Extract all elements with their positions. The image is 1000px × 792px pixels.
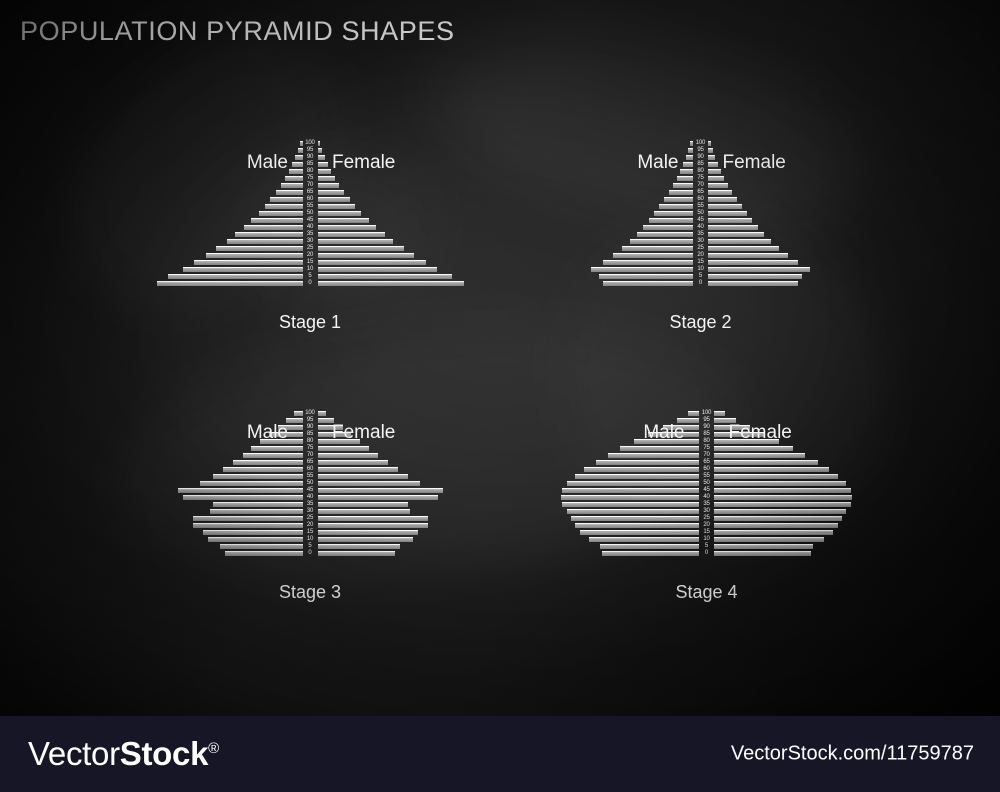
bar-female xyxy=(318,197,350,202)
bar-male xyxy=(580,530,699,535)
bar-male xyxy=(259,211,303,216)
axis-tick-label: 30 xyxy=(303,508,318,515)
bar-male xyxy=(673,183,693,188)
bar-female xyxy=(318,176,336,181)
axis-tick-label: 25 xyxy=(693,245,708,252)
bar-female xyxy=(318,481,421,486)
bar-male xyxy=(688,411,699,416)
bar-male xyxy=(225,551,303,556)
bar-female xyxy=(318,260,426,265)
legend-label-female: Female xyxy=(729,422,792,444)
axis-tick-label: 100 xyxy=(693,140,708,147)
bar-female xyxy=(714,411,725,416)
bar-female xyxy=(318,211,362,216)
page-title: POPULATION PYRAMID SHAPES xyxy=(20,16,455,47)
bar-male xyxy=(562,488,699,493)
bar-male xyxy=(603,260,693,265)
bar-male xyxy=(206,253,302,258)
axis-tick-label: 95 xyxy=(303,417,318,424)
bar-female xyxy=(318,169,331,174)
bar-female xyxy=(708,225,758,230)
axis-tick-label: 0 xyxy=(303,550,318,557)
bar-female xyxy=(708,281,798,286)
axis-tick-label: 95 xyxy=(699,417,714,424)
bar-male xyxy=(622,246,693,251)
axis-tick-label: 80 xyxy=(699,438,714,445)
axis-tick-label: 65 xyxy=(693,189,708,196)
bar-male xyxy=(194,260,302,265)
axis-tick-label: 45 xyxy=(303,217,318,224)
bar-female xyxy=(708,162,718,167)
axis-tick-label: 75 xyxy=(693,175,708,182)
axis-tick-label: 10 xyxy=(303,266,318,273)
registered-mark-icon: ® xyxy=(208,740,219,757)
pyramid-figure: 1009590858075706560555045403530252015105… xyxy=(568,410,845,557)
bar-female xyxy=(318,204,356,209)
bar-female xyxy=(708,155,715,160)
figure-caption: Stage 3 xyxy=(185,582,435,603)
bar-male xyxy=(157,281,303,286)
axis-tick-label: 90 xyxy=(699,424,714,431)
bar-male xyxy=(571,516,699,521)
bar-female xyxy=(708,218,752,223)
bar-male xyxy=(620,446,699,451)
bar-male xyxy=(216,246,302,251)
bar-female xyxy=(318,281,464,286)
bar-female xyxy=(708,211,747,216)
vignette-overlay xyxy=(0,0,1000,716)
bar-male xyxy=(251,446,302,451)
bar-male xyxy=(208,537,303,542)
axis-tick-label: 100 xyxy=(303,140,318,147)
axis-tick-label: 65 xyxy=(303,189,318,196)
axis-tick-label: 5 xyxy=(699,543,714,550)
bar-male xyxy=(285,176,303,181)
bar-male xyxy=(575,523,699,528)
axis-tick-label: 35 xyxy=(693,231,708,238)
bar-male xyxy=(265,204,303,209)
axis-tick-label: 10 xyxy=(699,536,714,543)
bar-female xyxy=(714,495,852,500)
bar-male xyxy=(567,509,699,514)
axis-tick-label: 85 xyxy=(303,161,318,168)
bar-female xyxy=(714,446,793,451)
bar-male xyxy=(276,190,302,195)
bar-male xyxy=(686,155,693,160)
bar-female xyxy=(318,274,452,279)
bar-female xyxy=(708,141,711,146)
bar-female xyxy=(708,239,771,244)
bar-male xyxy=(613,253,693,258)
bar-male xyxy=(680,169,693,174)
pyramid-plot: 1009590858075706560555045403530252015105… xyxy=(163,140,457,287)
bar-female xyxy=(318,467,398,472)
axis-tick-label: 95 xyxy=(303,147,318,154)
bar-male xyxy=(295,155,302,160)
bar-female xyxy=(318,162,328,167)
bar-female xyxy=(708,176,724,181)
axis-tick-label: 60 xyxy=(303,196,318,203)
bar-female xyxy=(318,148,322,153)
bar-female xyxy=(714,481,846,486)
axis-tick-label: 5 xyxy=(303,543,318,550)
legend-label-male: Male xyxy=(643,422,684,444)
axis-tick-label: 60 xyxy=(303,466,318,473)
bar-female xyxy=(708,260,798,265)
axis-tick-label: 60 xyxy=(693,196,708,203)
bar-male xyxy=(561,495,699,500)
bar-male xyxy=(200,481,303,486)
axis-tick-label: 45 xyxy=(699,487,714,494)
figure-caption: Stage 2 xyxy=(598,312,803,333)
bar-female xyxy=(708,169,721,174)
bar-male xyxy=(630,239,693,244)
bar-female xyxy=(318,495,438,500)
bar-female xyxy=(318,218,369,223)
axis-tick-label: 75 xyxy=(699,445,714,452)
axis-tick-label: 5 xyxy=(303,273,318,280)
axis-tick-label: 90 xyxy=(303,154,318,161)
axis-tick-label: 15 xyxy=(303,529,318,536)
bar-male xyxy=(596,460,700,465)
axis-tick-label: 20 xyxy=(303,252,318,259)
axis-tick-label: 25 xyxy=(303,245,318,252)
bar-male xyxy=(251,218,302,223)
axis-tick-label: 40 xyxy=(699,494,714,501)
bar-male xyxy=(599,274,693,279)
footer-bar: VectorStock® VectorStock.com/11759787 xyxy=(0,716,1000,792)
bar-female xyxy=(318,516,428,521)
axis-tick-label: 20 xyxy=(693,252,708,259)
bar-female xyxy=(714,523,838,528)
bar-male xyxy=(294,411,303,416)
bar-female xyxy=(318,225,376,230)
bar-male xyxy=(210,509,303,514)
bar-female xyxy=(318,239,394,244)
bar-male xyxy=(669,190,693,195)
bar-female xyxy=(318,183,340,188)
bar-male xyxy=(608,453,699,458)
bar-female xyxy=(714,488,851,493)
bar-female xyxy=(714,537,824,542)
bar-male xyxy=(213,474,303,479)
bar-male xyxy=(591,267,693,272)
bar-female xyxy=(318,411,327,416)
axis-tick-label: 75 xyxy=(303,445,318,452)
axis-tick-label: 5 xyxy=(693,273,708,280)
bar-female xyxy=(318,155,325,160)
axis-tick-label: 10 xyxy=(303,536,318,543)
axis-tick-label: 50 xyxy=(699,480,714,487)
bar-female xyxy=(318,232,385,237)
axis-tick-label: 80 xyxy=(303,438,318,445)
axis-tick-label: 20 xyxy=(699,522,714,529)
legend-label-male: Male xyxy=(247,422,288,444)
axis-tick-label: 100 xyxy=(303,410,318,417)
bar-female xyxy=(714,530,833,535)
bar-male xyxy=(602,551,699,556)
bar-male xyxy=(281,183,303,188)
axis-tick-label: 55 xyxy=(303,203,318,210)
bar-female xyxy=(318,488,443,493)
bar-male xyxy=(654,211,693,216)
footer-url: VectorStock.com/11759787 xyxy=(731,743,974,766)
bar-female xyxy=(714,509,846,514)
bar-male xyxy=(567,481,699,486)
bar-female xyxy=(714,467,829,472)
axis-tick-label: 40 xyxy=(303,224,318,231)
axis-tick-label: 50 xyxy=(303,480,318,487)
axis-tick-label: 95 xyxy=(693,147,708,154)
axis-tick-label: 100 xyxy=(699,410,714,417)
bar-male xyxy=(233,460,303,465)
bar-female xyxy=(318,453,378,458)
axis-tick-label: 85 xyxy=(699,431,714,438)
bar-male xyxy=(286,418,302,423)
bar-male xyxy=(637,232,693,237)
axis-tick-label: 70 xyxy=(303,182,318,189)
axis-tick-label: 30 xyxy=(699,508,714,515)
bar-female xyxy=(714,544,813,549)
axis-tick-label: 35 xyxy=(303,231,318,238)
legend-label-female: Female xyxy=(332,152,395,174)
axis-tick-label: 40 xyxy=(693,224,708,231)
pyramid-figure: 1009590858075706560555045403530252015105… xyxy=(598,140,803,287)
pyramid-plot: 1009590858075706560555045403530252015105… xyxy=(185,410,435,557)
age-axis: 1009590858075706560555045403530252015105… xyxy=(303,140,318,287)
axis-tick-label: 65 xyxy=(303,459,318,466)
bar-female xyxy=(714,460,818,465)
brand-bold: Stock xyxy=(120,735,208,772)
axis-tick-label: 50 xyxy=(693,210,708,217)
bar-male xyxy=(589,537,699,542)
axis-tick-label: 30 xyxy=(693,238,708,245)
axis-tick-label: 90 xyxy=(693,154,708,161)
axis-tick-label: 40 xyxy=(303,494,318,501)
bar-female xyxy=(714,516,842,521)
bar-male xyxy=(183,495,303,500)
bar-male xyxy=(292,162,302,167)
bar-female xyxy=(714,474,838,479)
bar-female xyxy=(318,141,321,146)
bar-female xyxy=(318,544,401,549)
bar-male xyxy=(227,239,303,244)
bar-female xyxy=(708,246,779,251)
bar-female xyxy=(708,274,802,279)
age-axis: 1009590858075706560555045403530252015105… xyxy=(693,140,708,287)
bar-male xyxy=(168,274,302,279)
bar-male xyxy=(244,225,302,230)
bar-female xyxy=(708,253,788,258)
bar-male xyxy=(584,467,699,472)
bar-male xyxy=(289,169,302,174)
legend-label-female: Female xyxy=(723,152,786,174)
axis-tick-label: 45 xyxy=(693,217,708,224)
bar-female xyxy=(318,246,404,251)
bar-male xyxy=(659,204,693,209)
legend-label-male: Male xyxy=(247,152,288,174)
bar-male xyxy=(243,453,303,458)
age-axis: 1009590858075706560555045403530252015105… xyxy=(303,410,318,557)
axis-tick-label: 90 xyxy=(303,424,318,431)
axis-tick-label: 0 xyxy=(693,280,708,287)
bar-female xyxy=(708,183,728,188)
axis-tick-label: 35 xyxy=(303,501,318,508)
figure-caption: Stage 1 xyxy=(163,312,457,333)
chalkboard-canvas: POPULATION PYRAMID SHAPES 10095908580757… xyxy=(0,0,1000,716)
axis-tick-label: 80 xyxy=(693,168,708,175)
bar-female xyxy=(318,523,428,528)
bar-male xyxy=(193,516,303,521)
age-axis: 1009590858075706560555045403530252015105… xyxy=(699,410,714,557)
bar-male xyxy=(235,232,302,237)
bar-male xyxy=(562,502,699,507)
axis-tick-label: 10 xyxy=(693,266,708,273)
bar-female xyxy=(708,232,764,237)
bar-male xyxy=(649,218,693,223)
pyramid-plot: 1009590858075706560555045403530252015105… xyxy=(568,410,845,557)
bar-male xyxy=(677,176,693,181)
bar-female xyxy=(318,509,411,514)
bar-male xyxy=(193,523,303,528)
axis-tick-label: 60 xyxy=(699,466,714,473)
bar-female xyxy=(318,190,344,195)
bar-female xyxy=(318,551,396,556)
axis-tick-label: 15 xyxy=(699,529,714,536)
axis-tick-label: 25 xyxy=(303,515,318,522)
bar-female xyxy=(318,474,408,479)
bar-male xyxy=(183,267,303,272)
bar-male xyxy=(270,197,302,202)
bar-female xyxy=(708,267,810,272)
bar-female xyxy=(714,453,805,458)
axis-tick-label: 15 xyxy=(303,259,318,266)
axis-tick-label: 80 xyxy=(303,168,318,175)
axis-tick-label: 65 xyxy=(699,459,714,466)
bar-female xyxy=(714,502,851,507)
bar-female xyxy=(708,190,732,195)
pyramid-figure: 1009590858075706560555045403530252015105… xyxy=(185,410,435,557)
bar-male xyxy=(213,502,303,507)
axis-tick-label: 15 xyxy=(693,259,708,266)
legend-label-male: Male xyxy=(637,152,678,174)
bar-male xyxy=(600,544,699,549)
axis-tick-label: 75 xyxy=(303,175,318,182)
pyramid-figure: 1009590858075706560555045403530252015105… xyxy=(163,140,457,287)
bar-female xyxy=(318,446,369,451)
axis-tick-label: 30 xyxy=(303,238,318,245)
axis-tick-label: 55 xyxy=(693,203,708,210)
vectorstock-logo: VectorStock® xyxy=(28,735,219,773)
bar-male xyxy=(203,530,303,535)
bar-female xyxy=(318,537,413,542)
axis-tick-label: 0 xyxy=(699,550,714,557)
bar-male xyxy=(603,281,693,286)
bar-female xyxy=(318,460,388,465)
axis-tick-label: 70 xyxy=(693,182,708,189)
bar-female xyxy=(708,197,737,202)
bar-male xyxy=(643,225,693,230)
bar-male xyxy=(664,197,693,202)
bar-female xyxy=(708,204,742,209)
axis-tick-label: 25 xyxy=(699,515,714,522)
bar-female xyxy=(318,502,408,507)
bar-female xyxy=(318,253,414,258)
axis-tick-label: 35 xyxy=(699,501,714,508)
axis-tick-label: 70 xyxy=(699,452,714,459)
axis-tick-label: 85 xyxy=(693,161,708,168)
bar-female xyxy=(318,267,438,272)
legend-label-female: Female xyxy=(332,422,395,444)
bar-male xyxy=(223,467,303,472)
axis-tick-label: 85 xyxy=(303,431,318,438)
axis-tick-label: 50 xyxy=(303,210,318,217)
bar-female xyxy=(708,148,713,153)
axis-tick-label: 55 xyxy=(303,473,318,480)
axis-tick-label: 55 xyxy=(699,473,714,480)
bar-female xyxy=(714,551,811,556)
axis-tick-label: 20 xyxy=(303,522,318,529)
axis-tick-label: 70 xyxy=(303,452,318,459)
bar-male xyxy=(575,474,699,479)
bar-male xyxy=(220,544,303,549)
figure-caption: Stage 4 xyxy=(568,582,845,603)
bar-female xyxy=(318,530,418,535)
brand-thin: Vector xyxy=(28,735,120,772)
bar-male xyxy=(178,488,303,493)
bar-male xyxy=(683,162,693,167)
axis-tick-label: 45 xyxy=(303,487,318,494)
axis-tick-label: 0 xyxy=(303,280,318,287)
